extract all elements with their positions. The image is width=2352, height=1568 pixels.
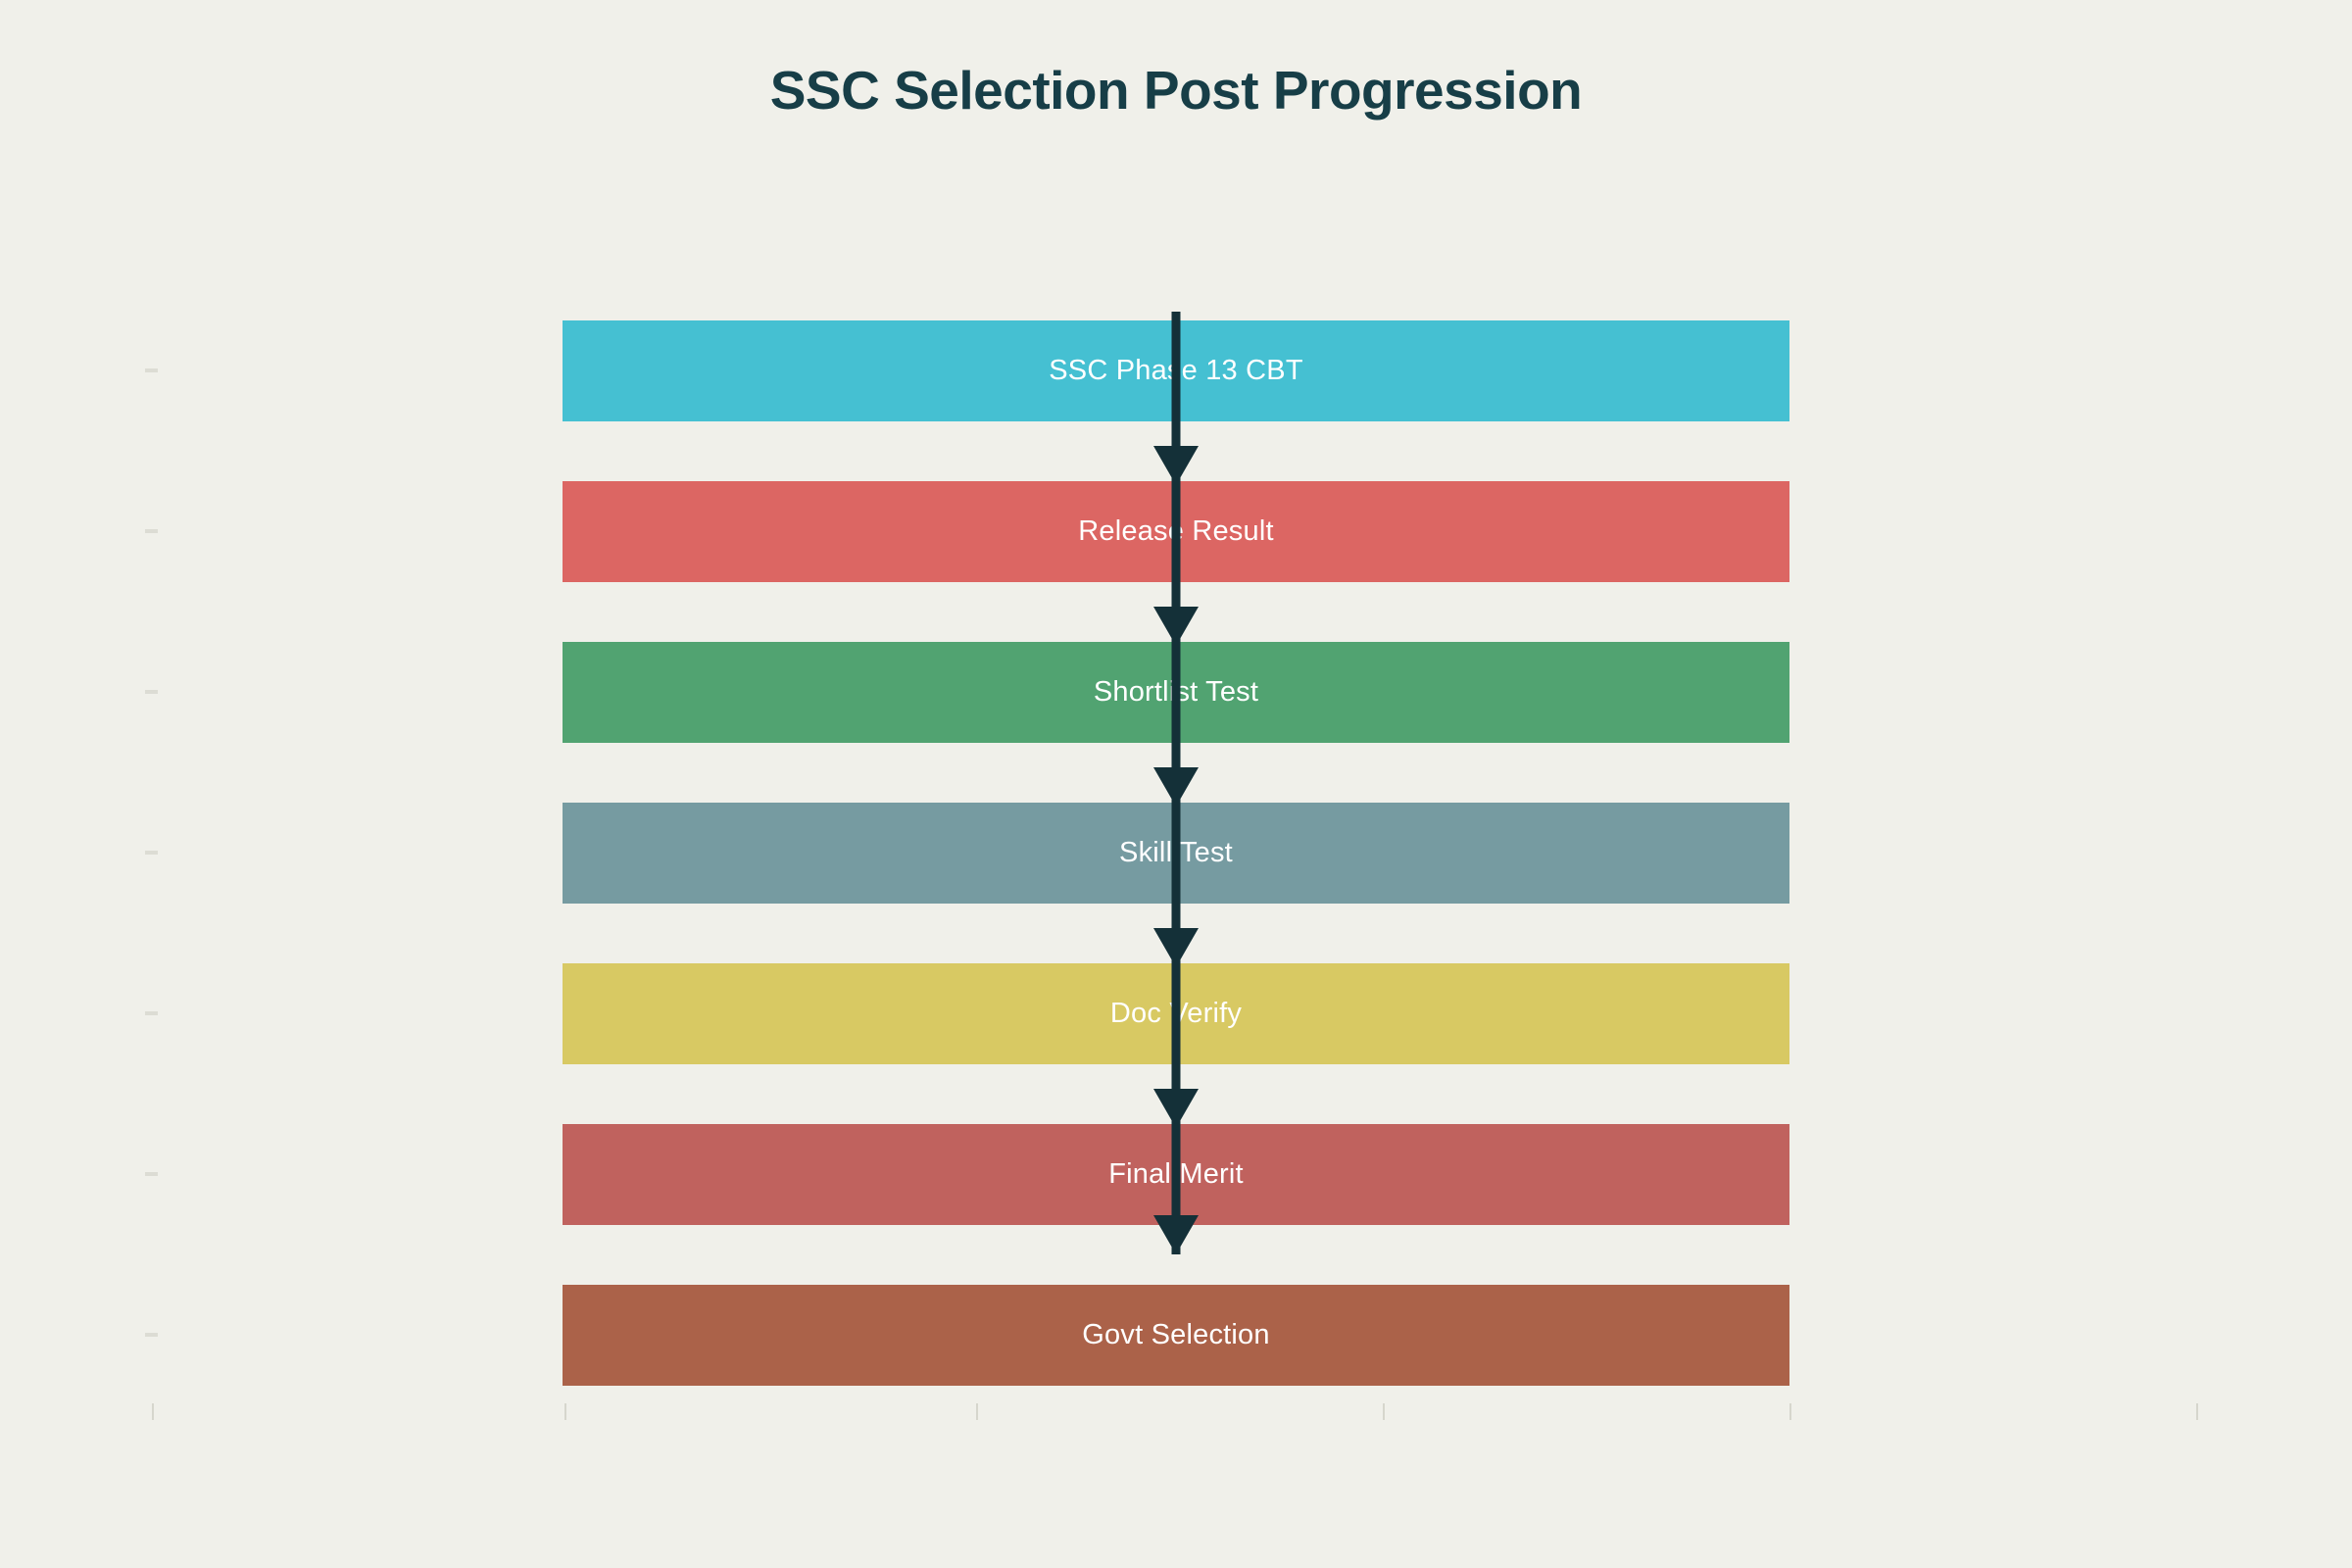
y-axis-tick xyxy=(145,529,158,533)
stage-label: SSC Phase 13 CBT xyxy=(1049,355,1303,387)
y-axis-tick xyxy=(145,1333,158,1337)
x-axis-tick xyxy=(1383,1403,1385,1420)
stage-label: Doc Verify xyxy=(1110,998,1242,1030)
y-axis-tick xyxy=(145,1011,158,1015)
stage-bar-govt-selection[interactable]: Govt Selection xyxy=(563,1285,1789,1386)
stage-bar-shortlist-test[interactable]: Shortlist Test xyxy=(563,642,1789,743)
stage-label: Shortlist Test xyxy=(1094,676,1258,709)
flow-arrowhead xyxy=(1153,767,1199,807)
x-axis-tick xyxy=(2196,1403,2198,1420)
flow-arrowhead xyxy=(1153,1089,1199,1128)
stage-bar-ssc-phase-13-cbt[interactable]: SSC Phase 13 CBT xyxy=(563,320,1789,421)
stage-label: Govt Selection xyxy=(1082,1319,1269,1351)
x-axis-tick xyxy=(564,1403,566,1420)
stage-bar-doc-verify[interactable]: Doc Verify xyxy=(563,963,1789,1064)
x-axis-tick xyxy=(152,1403,154,1420)
y-axis-tick xyxy=(145,368,158,372)
flow-arrowhead xyxy=(1153,928,1199,967)
stage-label: Final Merit xyxy=(1108,1158,1244,1191)
y-axis-tick xyxy=(145,1172,158,1176)
y-axis-tick xyxy=(145,851,158,855)
flow-arrowhead xyxy=(1153,607,1199,646)
stage-bar-final-merit[interactable]: Final Merit xyxy=(563,1124,1789,1225)
chart-canvas: SSC Selection Post Progression SSC Phase… xyxy=(0,0,2352,1568)
flow-arrowhead xyxy=(1153,446,1199,485)
plot-area: SSC Phase 13 CBT Release Result Shortlis… xyxy=(0,0,2352,1568)
y-axis-tick xyxy=(145,690,158,694)
stage-bar-skill-test[interactable]: Skill Test xyxy=(563,803,1789,904)
x-axis-tick xyxy=(1789,1403,1791,1420)
stage-label: Release Result xyxy=(1078,515,1273,548)
stage-label: Skill Test xyxy=(1119,837,1233,869)
stage-bar-release-result[interactable]: Release Result xyxy=(563,481,1789,582)
x-axis-tick xyxy=(976,1403,978,1420)
